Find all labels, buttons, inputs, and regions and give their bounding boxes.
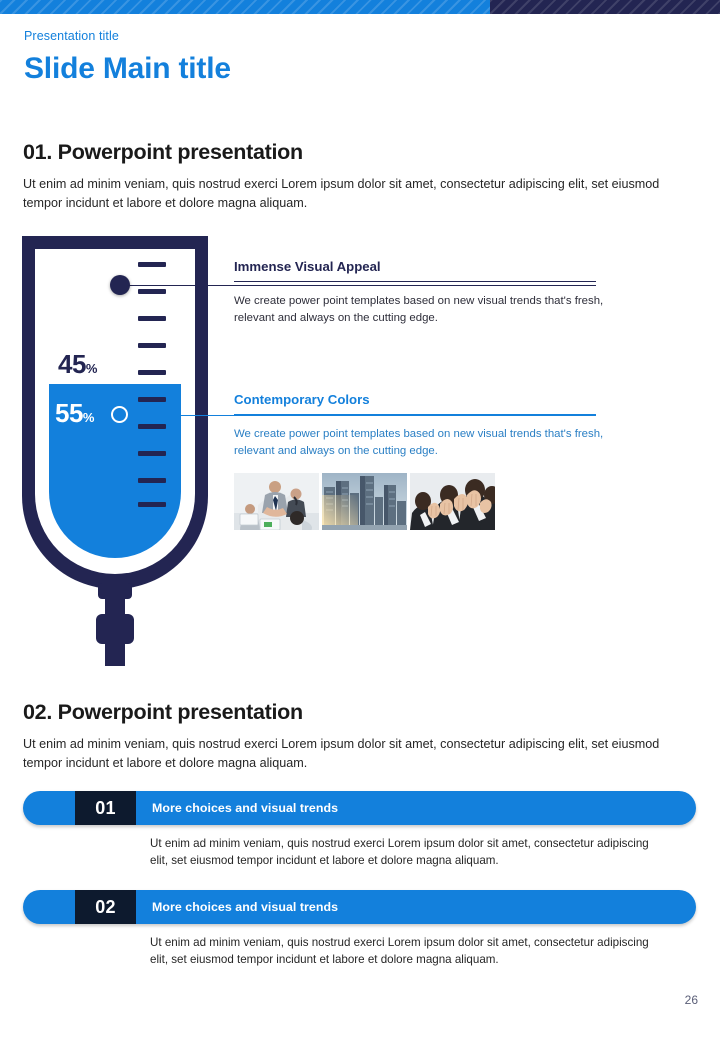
section-02-title: 02. Powerpoint presentation xyxy=(23,700,303,725)
slide-main-title: Slide Main title xyxy=(24,54,231,84)
numbered-bar-01-label: More choices and visual trends xyxy=(136,791,338,825)
section-01-body: Ut enim ad minim veniam, quis nostrud ex… xyxy=(23,175,699,213)
gauge-value-lower-number: 55 xyxy=(55,398,83,428)
page-number: 26 xyxy=(685,993,698,1007)
numbered-bar-01-description: Ut enim ad minim veniam, quis nostrud ex… xyxy=(150,835,660,870)
presentation-title-eyebrow: Presentation title xyxy=(24,30,231,43)
feature-block-1: Immense Visual Appeal We create power po… xyxy=(234,260,596,327)
band-segment-navy xyxy=(490,0,720,14)
section-02-body: Ut enim ad minim veniam, quis nostrud ex… xyxy=(23,735,699,773)
feature-2-title: Contemporary Colors xyxy=(234,393,596,414)
feature-1-title: Immense Visual Appeal xyxy=(234,260,596,281)
feature-2-body: We create power point templates based on… xyxy=(234,415,614,460)
slide-header: Presentation title Slide Main title xyxy=(24,30,231,84)
gauge-value-upper-unit: % xyxy=(86,361,98,376)
iv-bag-gauge-chart xyxy=(22,236,208,666)
photo-business-meeting xyxy=(234,473,319,530)
numbered-bar-02-description: Ut enim ad minim veniam, quis nostrud ex… xyxy=(150,934,660,969)
top-decorative-band xyxy=(0,0,720,14)
numbered-bar-02-number: 02 xyxy=(75,890,136,924)
gauge-value-upper: 45% xyxy=(58,351,97,377)
marker-circle-blue-icon xyxy=(111,406,128,423)
numbered-bar-02[interactable]: 02 More choices and visual trends xyxy=(23,890,696,924)
numbered-bar-01[interactable]: 01 More choices and visual trends xyxy=(23,791,696,825)
marker-dot-navy-icon xyxy=(110,275,130,295)
gauge-tick-marks xyxy=(138,262,172,512)
numbered-bar-02-label: More choices and visual trends xyxy=(136,890,338,924)
photo-audience-applauding xyxy=(410,473,495,530)
gauge-value-upper-number: 45 xyxy=(58,349,86,379)
feature-1-body: We create power point templates based on… xyxy=(234,282,614,327)
photo-strip xyxy=(234,473,495,530)
numbered-bar-01-number: 01 xyxy=(75,791,136,825)
feature-block-2: Contemporary Colors We create power poin… xyxy=(234,393,596,460)
gauge-value-lower-unit: % xyxy=(83,410,95,425)
photo-city-skyscrapers xyxy=(322,473,407,530)
section-01-title: 01. Powerpoint presentation xyxy=(23,140,303,165)
gauge-value-lower: 55% xyxy=(55,400,94,426)
band-segment-blue xyxy=(0,0,490,14)
